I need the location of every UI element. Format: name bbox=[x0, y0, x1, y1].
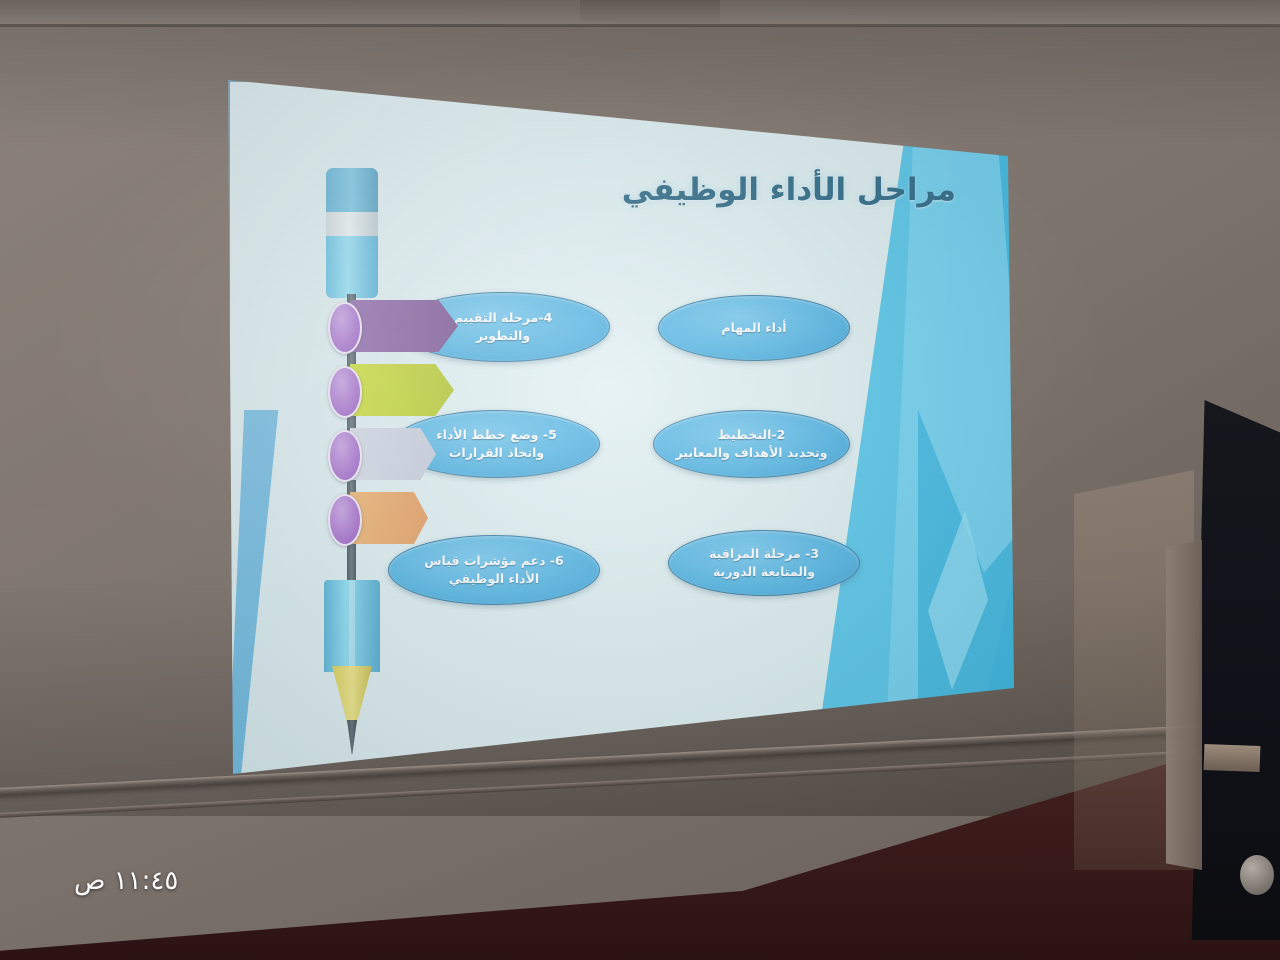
door-frame-trim bbox=[1166, 540, 1202, 870]
photo-scene: مراحل الأداء الوظيفي أداء المهام 2-التخط… bbox=[0, 0, 1280, 960]
ceiling-vent bbox=[580, 0, 720, 22]
slide-light-tint bbox=[228, 80, 1018, 780]
ceiling-edge-line bbox=[0, 24, 1280, 27]
clock-overlay: ١١:٤٥ ص bbox=[74, 866, 178, 896]
door-plate bbox=[1204, 744, 1261, 772]
projected-slide: مراحل الأداء الوظيفي أداء المهام 2-التخط… bbox=[228, 80, 1008, 680]
door-knob bbox=[1240, 855, 1274, 895]
